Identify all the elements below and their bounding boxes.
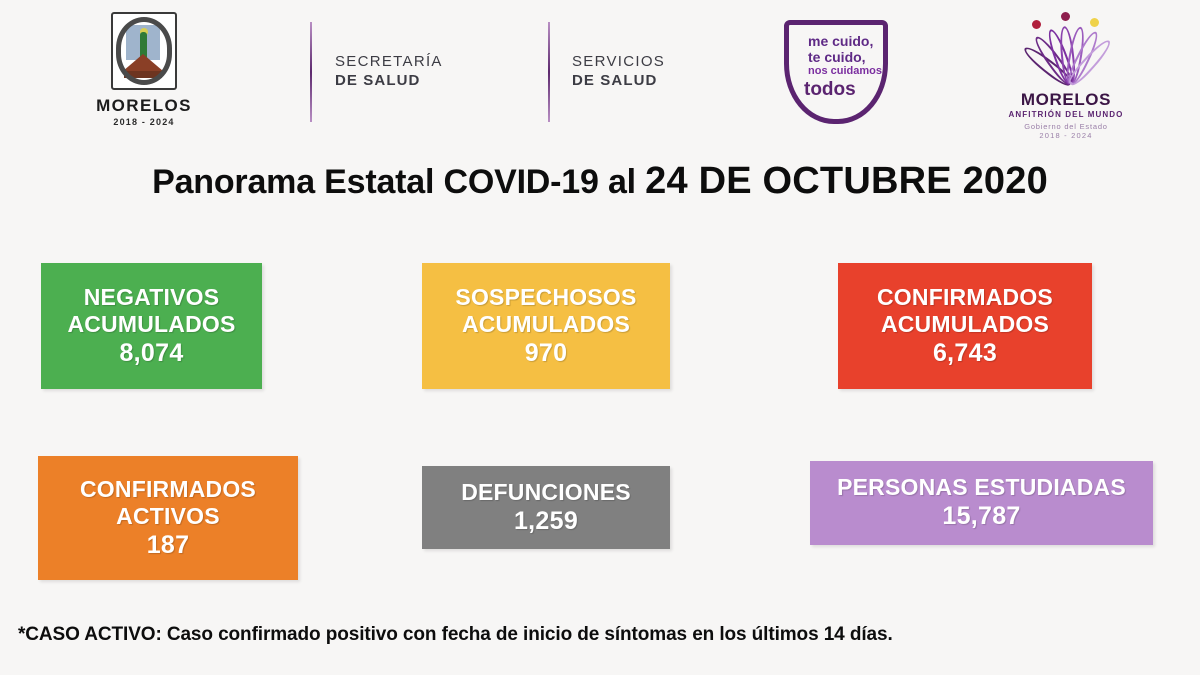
stat-card-label-line1: DEFUNCIONES (461, 479, 631, 506)
coat-of-arms-icon (111, 12, 177, 90)
morelos-coat-of-arms-logo: MORELOS 2018 - 2024 (85, 12, 203, 127)
morelos-anfitrion-brand-logo: MORELOS ANFITRIÓN DEL MUNDO Gobierno del… (1000, 12, 1132, 140)
stat-card-label-line1: PERSONAS ESTUDIADAS (837, 474, 1126, 501)
servicios-de-salud-wordmark: SERVICIOS DE SALUD (572, 52, 665, 90)
secretaria-line-2: DE SALUD (335, 71, 443, 90)
header-divider-2 (548, 22, 550, 122)
secretaria-line-1: SECRETARÍA (335, 52, 443, 71)
stat-card-label-line1: CONFIRMADOS (877, 284, 1053, 311)
stat-card-label-line2: ACUMULADOS (881, 311, 1049, 338)
stat-card-value: 8,074 (119, 338, 183, 369)
stat-card-label-line2: ACTIVOS (116, 503, 220, 530)
me-cuido-line-4: todos (804, 79, 908, 100)
coat-of-arms-years: 2018 - 2024 (85, 117, 203, 127)
page-title-date: 24 DE OCTUBRE 2020 (645, 160, 1048, 202)
stat-card-personas-estudiadas[interactable]: PERSONAS ESTUDIADAS 15,787 (810, 461, 1153, 545)
brand-name: MORELOS (1000, 90, 1132, 110)
me-cuido-line-3: nos cuidamos (808, 65, 908, 77)
header-divider-1 (310, 22, 312, 122)
stat-card-label-line2: ACUMULADOS (462, 311, 630, 338)
secretaria-de-salud-wordmark: SECRETARÍA DE SALUD (335, 52, 443, 90)
stat-card-value: 970 (525, 338, 568, 369)
stat-card-label-line2: ACUMULADOS (67, 311, 235, 338)
stat-card-label-line1: SOSPECHOSOS (455, 284, 636, 311)
stat-card-sospechosos-acumulados[interactable]: SOSPECHOSOS ACUMULADOS 970 (422, 263, 670, 389)
stat-card-label-line1: CONFIRMADOS (80, 476, 256, 503)
stat-card-confirmados-activos[interactable]: CONFIRMADOS ACTIVOS 187 (38, 456, 298, 580)
coat-ring-border (116, 17, 172, 85)
brand-dot-magenta (1061, 12, 1070, 21)
me-cuido-line-2: te cuido, (808, 50, 908, 66)
stat-card-value: 1,259 (514, 506, 578, 537)
servicios-line-1: SERVICIOS (572, 52, 665, 71)
page-title-prefix: Panorama Estatal COVID-19 al (152, 163, 645, 201)
brand-dot-yellow (1090, 18, 1099, 27)
stat-card-defunciones[interactable]: DEFUNCIONES 1,259 (422, 466, 670, 549)
brand-years: 2018 - 2024 (1000, 131, 1132, 140)
coat-of-arms-state-name: MORELOS (85, 96, 203, 116)
header-logo-bar: MORELOS 2018 - 2024 SECRETARÍA DE SALUD … (0, 0, 1200, 148)
servicios-line-2: DE SALUD (572, 71, 665, 90)
me-cuido-slogan: me cuido, te cuido, nos cuidamos todos (808, 34, 908, 100)
stat-card-negativos-acumulados[interactable]: NEGATIVOS ACUMULADOS 8,074 (41, 263, 262, 389)
stat-card-label-line1: NEGATIVOS (84, 284, 220, 311)
footnote-caso-activo: *CASO ACTIVO: Caso confirmado positivo c… (18, 624, 893, 646)
page-title: Panorama Estatal COVID-19 al 24 DE OCTUB… (0, 160, 1200, 203)
stat-card-confirmados-acumulados[interactable]: CONFIRMADOS ACUMULADOS 6,743 (838, 263, 1092, 389)
stat-card-value: 6,743 (933, 338, 997, 369)
stat-card-value: 15,787 (942, 501, 1020, 532)
brand-tagline: ANFITRIÓN DEL MUNDO (1000, 110, 1132, 119)
brand-dot-red (1032, 20, 1041, 29)
me-cuido-line-1: me cuido, (808, 34, 908, 50)
stat-card-value: 187 (147, 530, 190, 561)
flower-fan-icon (1014, 12, 1118, 88)
me-cuido-campaign-logo: me cuido, te cuido, nos cuidamos todos (778, 14, 906, 132)
brand-government-label: Gobierno del Estado (1000, 122, 1132, 131)
